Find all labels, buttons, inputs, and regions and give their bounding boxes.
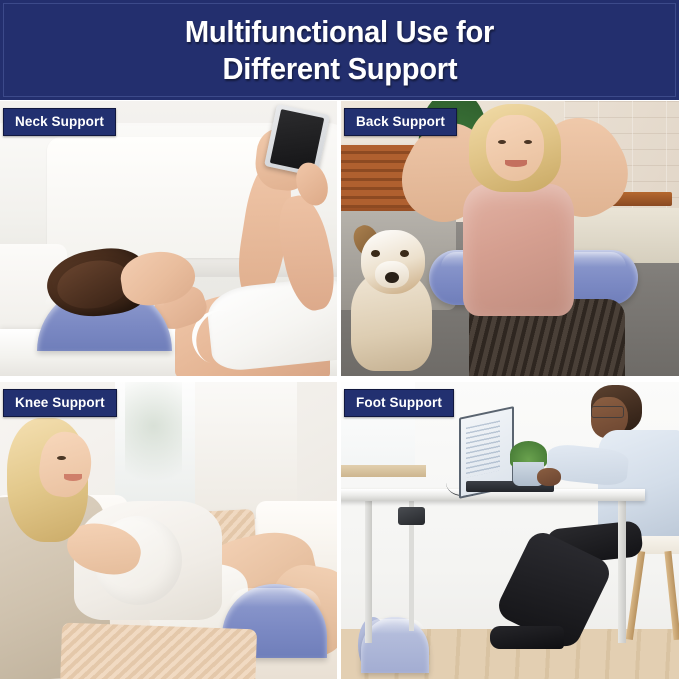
model-hand <box>537 468 561 486</box>
back-support-photo <box>341 101 679 376</box>
header-banner: Multifunctional Use for Different Suppor… <box>0 0 679 100</box>
feature-grid: Neck Support <box>0 101 679 679</box>
badge-foot-support: Foot Support <box>344 389 454 417</box>
neck-support-photo <box>0 101 337 376</box>
window-sill <box>341 465 426 477</box>
panel-knee-support: Knee Support <box>0 382 337 679</box>
panel-back-support: Back Support <box>341 101 679 376</box>
model-eye-left <box>498 140 506 144</box>
model-smile <box>64 474 82 481</box>
model-shoe <box>490 626 564 650</box>
badge-back-support: Back Support <box>344 108 457 136</box>
badge-neck-support: Neck Support <box>3 108 116 136</box>
foot-support-photo <box>341 382 679 679</box>
panel-foot-support: Foot Support <box>341 382 679 679</box>
dog-eye-left <box>371 250 380 257</box>
desk-leg-right <box>618 501 626 644</box>
model-eye-right <box>524 140 532 144</box>
knee-support-photo <box>0 382 337 679</box>
laptop-screen-content <box>466 420 500 478</box>
knit-cushion-lower <box>60 622 258 679</box>
eyeglasses <box>591 406 623 418</box>
model-pink-tank-top <box>463 184 575 316</box>
wall-panel <box>195 382 296 519</box>
page-title-line-1: Multifunctional Use for <box>185 13 494 50</box>
desk-leg-left <box>365 501 372 644</box>
dog-nose <box>385 272 399 284</box>
badge-knee-support: Knee Support <box>3 389 117 417</box>
window-tree-silhouette <box>125 382 182 507</box>
page-title-line-2: Different Support <box>222 50 457 87</box>
product-feature-image: Multifunctional Use for Different Suppor… <box>0 0 679 679</box>
dog-eye-right <box>400 250 409 257</box>
header-inner-border: Multifunctional Use for Different Suppor… <box>3 3 676 97</box>
model-face <box>486 115 543 181</box>
model-smile <box>505 160 527 167</box>
panel-neck-support: Neck Support <box>0 101 337 376</box>
under-desk-cable-box <box>398 507 425 525</box>
